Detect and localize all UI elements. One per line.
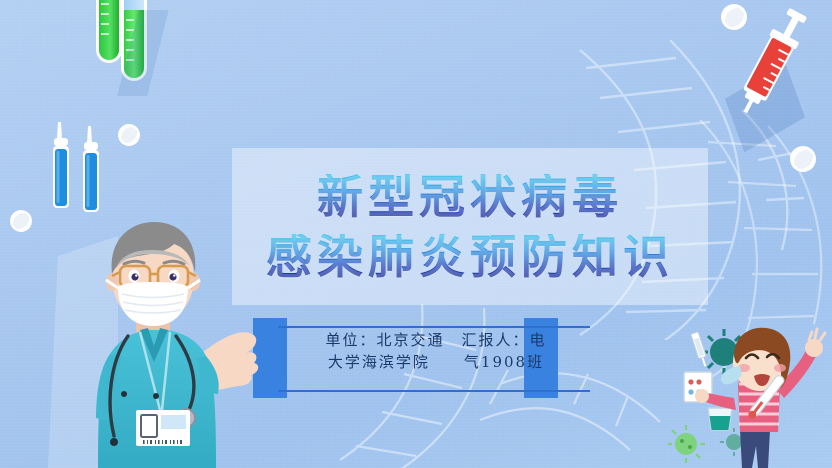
virus-particle-left bbox=[668, 425, 705, 463]
subtitle-line-1: 单位：北京交通 汇报人：电 bbox=[291, 330, 581, 352]
stethoscope-tip-left bbox=[110, 438, 118, 446]
doctor-character bbox=[48, 196, 264, 468]
small-syringe bbox=[691, 332, 709, 368]
pill-white-1 bbox=[116, 122, 142, 148]
title-line-2: 感染肺炎预防知识 bbox=[232, 234, 708, 280]
subtitle-block: 单位：北京交通 汇报人：电 大学海滨学院 气1908班 bbox=[253, 318, 615, 398]
sick-girl-character bbox=[668, 326, 832, 468]
syringe-red bbox=[726, 4, 818, 120]
title-line-1: 新型冠状病毒 bbox=[232, 174, 708, 220]
id-badge bbox=[136, 410, 190, 446]
water-cup bbox=[708, 408, 732, 430]
subtitle-line-2: 大学海滨学院 气1908班 bbox=[291, 352, 581, 374]
pill-white-2 bbox=[8, 208, 34, 234]
presentation-slide: 新型冠状病毒 感染肺炎预防知识 单位：北京交通 汇报人：电 大学海滨学院 气19… bbox=[0, 0, 832, 468]
pill-white-4 bbox=[788, 144, 818, 174]
girl-pants bbox=[740, 430, 770, 468]
title-panel: 新型冠状病毒 感染肺炎预防知识 bbox=[232, 148, 708, 305]
